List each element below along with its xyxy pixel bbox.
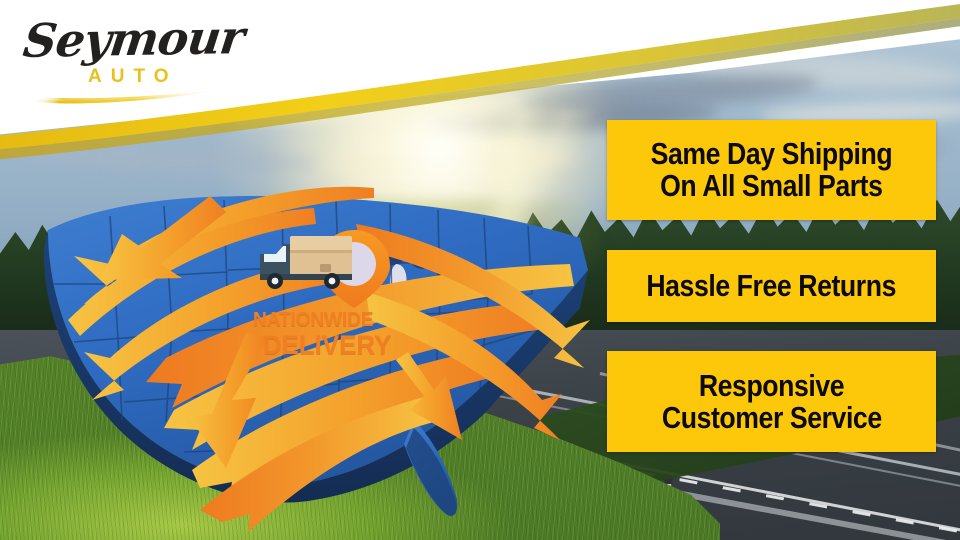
brand-name: Seymour bbox=[20, 10, 246, 68]
delivery-caption-line1: NATIONWIDE bbox=[253, 310, 397, 330]
feature-banner-line: Hassle Free Returns bbox=[647, 270, 897, 302]
delivery-caption-line2: DELIVERY bbox=[263, 332, 397, 359]
feature-banner-line: Same Day Shipping bbox=[651, 138, 893, 170]
feature-banner-hassle-free-returns[interactable]: Hassle Free Returns bbox=[607, 250, 936, 322]
brand-subtitle: AUTO bbox=[88, 66, 177, 88]
promo-banner-slide: Seymour AUTO bbox=[0, 0, 960, 540]
nationwide-delivery-badge: NATIONWIDE DELIVERY bbox=[250, 224, 410, 369]
logo-swoosh-icon bbox=[30, 86, 230, 108]
delivery-caption: NATIONWIDE DELIVERY bbox=[250, 310, 400, 359]
brand-logo[interactable]: Seymour AUTO bbox=[16, 14, 231, 106]
feature-banner-responsive-customer-service[interactable]: Responsive Customer Service bbox=[607, 351, 936, 452]
feature-banner-line: Customer Service bbox=[662, 402, 882, 434]
delivery-truck-icon bbox=[260, 236, 352, 289]
feature-banner-line: Responsive bbox=[699, 370, 844, 402]
feature-banner-line: On All Small Parts bbox=[660, 170, 882, 202]
feature-banner-same-day-shipping[interactable]: Same Day Shipping On All Small Parts bbox=[607, 120, 936, 220]
